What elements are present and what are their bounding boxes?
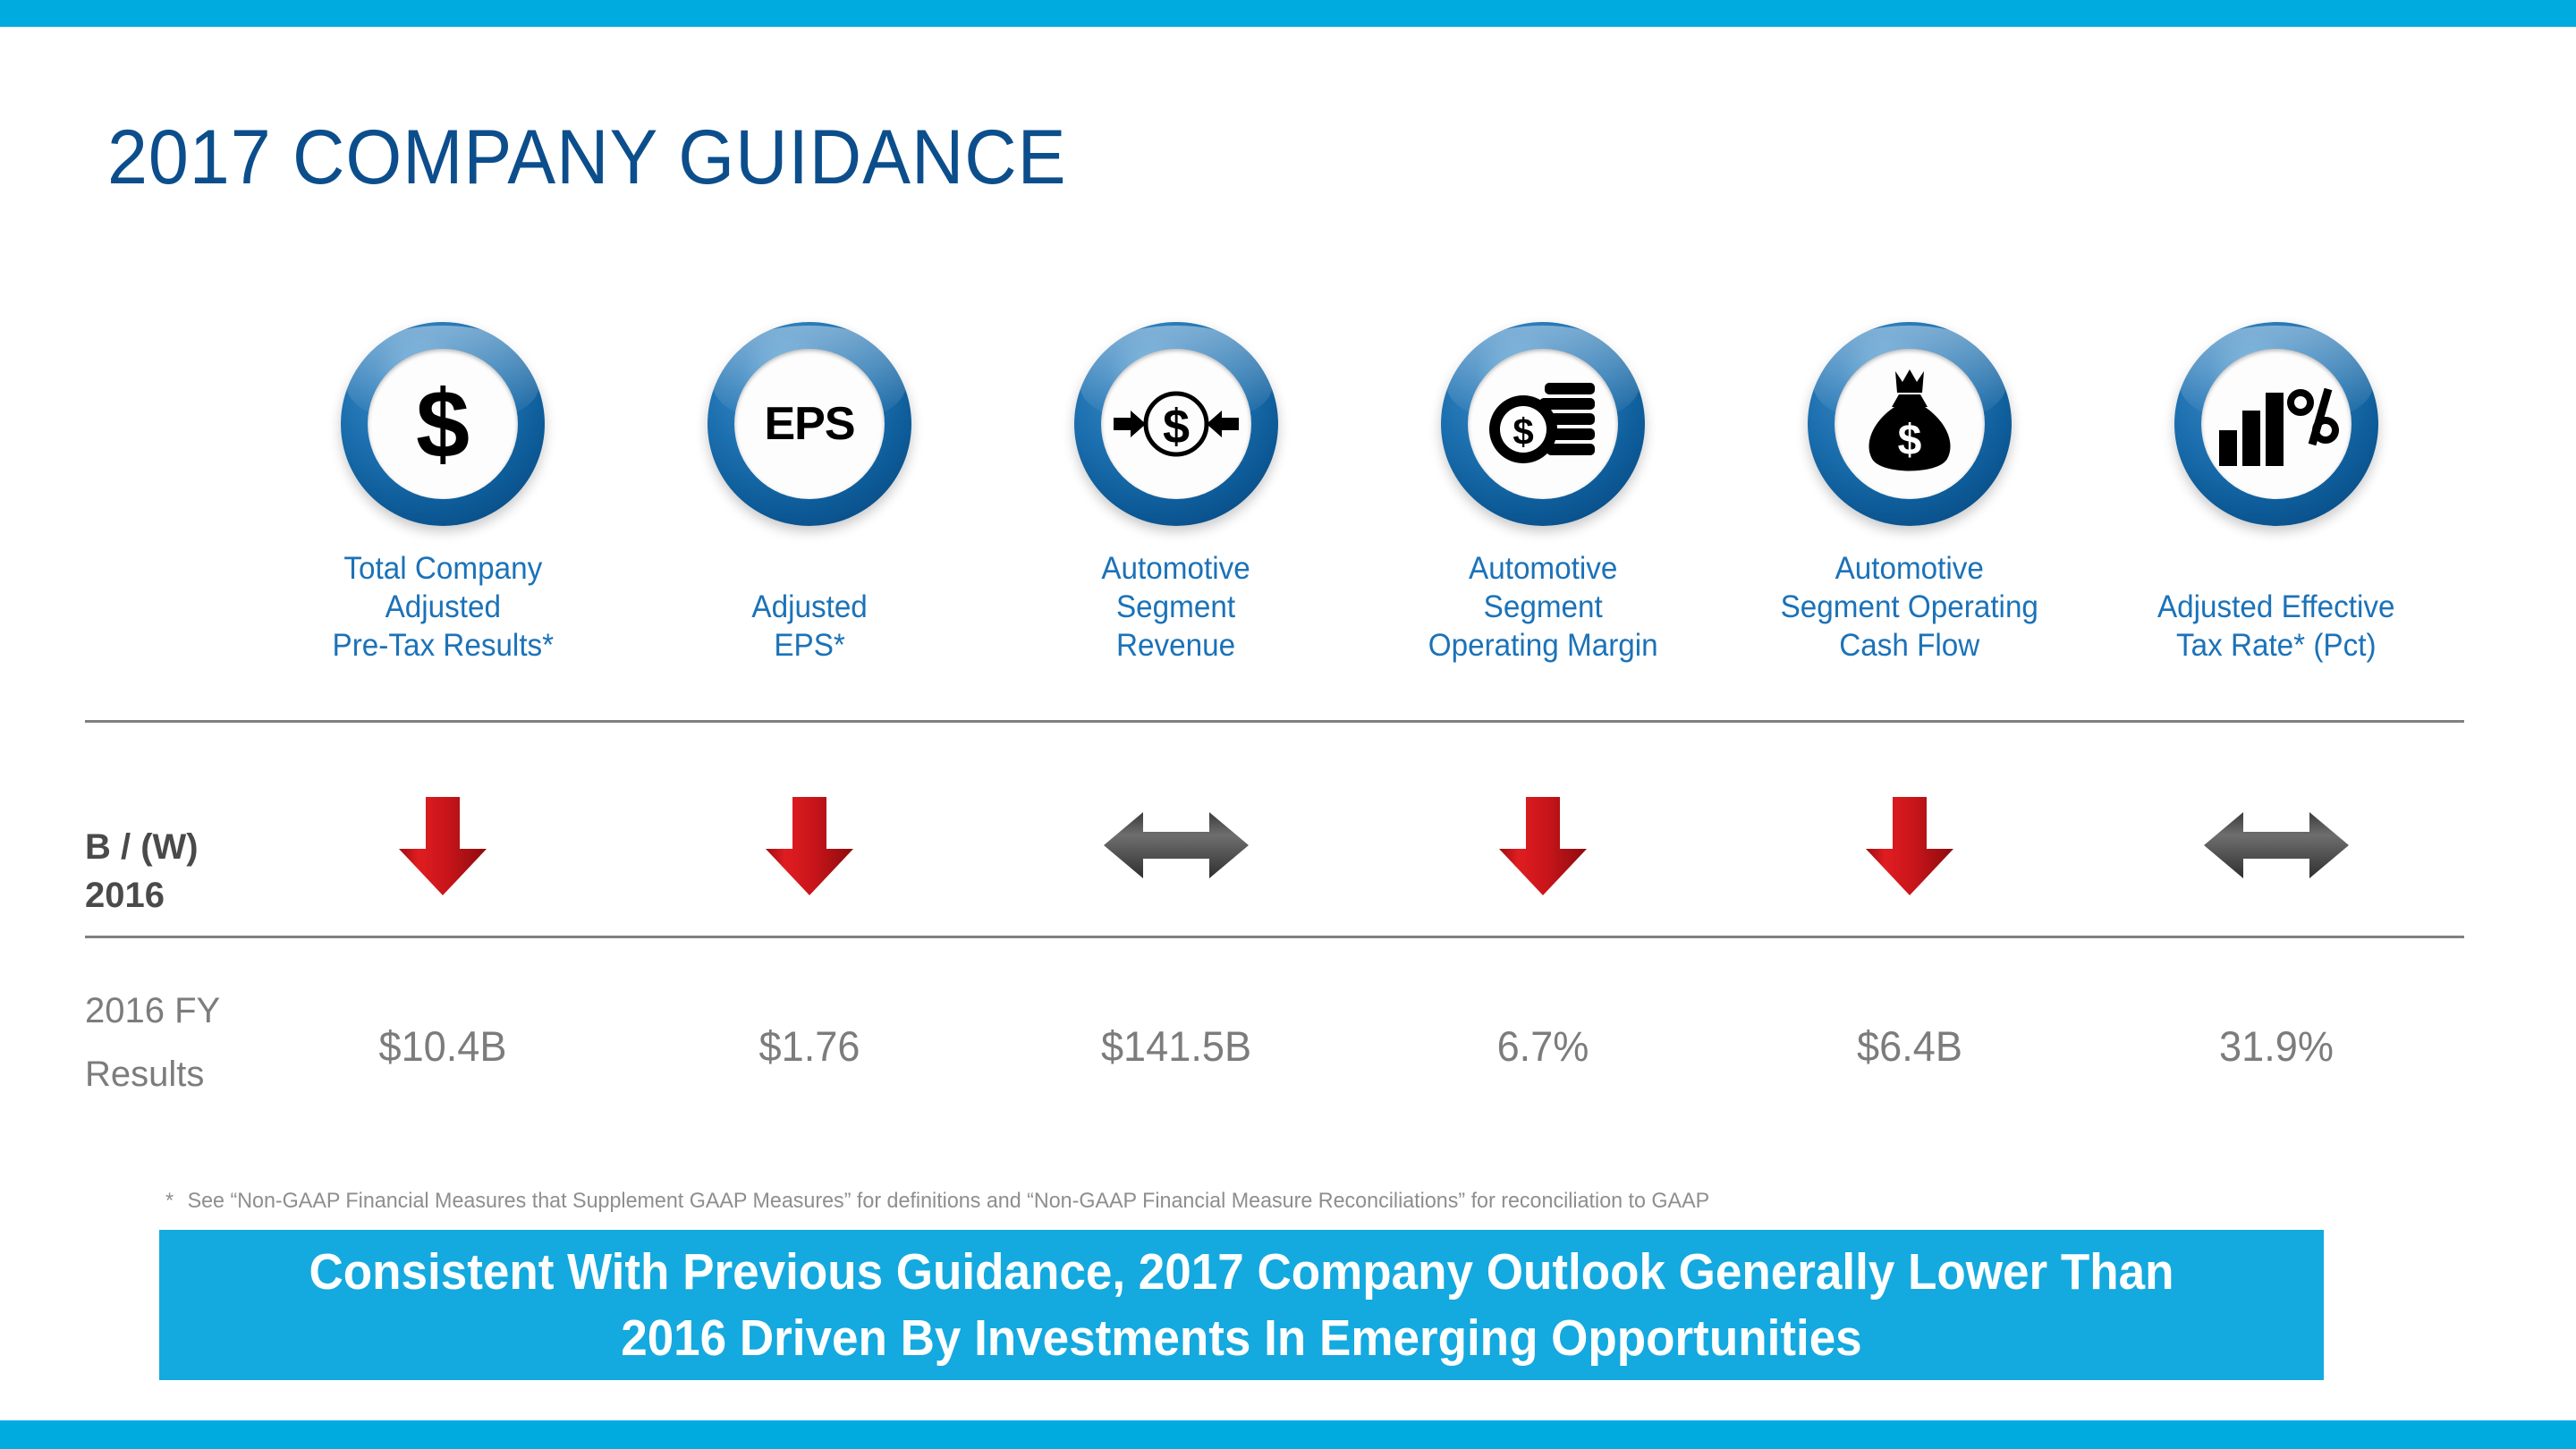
metric-caption: Automotive Segment Operating Margin	[1428, 549, 1658, 665]
bw-row-label-line1: B / (W)	[85, 823, 199, 871]
fy-value: 6.7%	[1367, 1020, 1719, 1073]
caption-line: Automotive	[1428, 549, 1658, 588]
caption-line: Automotive	[1781, 549, 2038, 588]
caption-line: Tax Rate* (Pct)	[2157, 626, 2395, 665]
fy-value-row: $10.4B $1.76 $141.5B 6.7% $6.4B 31.9%	[259, 1020, 2460, 1073]
inward-arrows-dollar-glyph: $	[1109, 375, 1243, 473]
metric-column: $ Automotive Segment Operating Margin	[1360, 322, 1726, 665]
metric-column: $ Automotive Segment Revenue	[993, 322, 1360, 665]
bar-chart-percent-icon	[2174, 322, 2378, 526]
down-arrow-icon	[1494, 792, 1592, 899]
caption-line	[751, 549, 867, 588]
coin-stack-icon: $	[1441, 322, 1645, 526]
fy-value: $141.5B	[1000, 1020, 1352, 1073]
trend-cell	[2093, 787, 2460, 903]
slide-canvas: 2017 COMPANY GUIDANCE $ Total Company Ad…	[0, 0, 2576, 1449]
fy-row-label-line1: 2016 FY	[85, 979, 220, 1043]
fy-value: $6.4B	[1733, 1020, 2086, 1073]
metric-column: $ Total Company Adjusted Pre-Tax Results…	[259, 322, 626, 665]
fy-value: $10.4B	[267, 1020, 619, 1073]
caption-line: Adjusted	[751, 588, 867, 626]
caption-line: EPS*	[751, 626, 867, 665]
divider-top	[85, 720, 2464, 723]
money-bag-glyph: $	[1856, 366, 1963, 482]
trend-cell	[1726, 787, 2093, 903]
metric-caption: Adjusted Effective Tax Rate* (Pct)	[2157, 549, 2395, 665]
down-arrow-icon	[394, 792, 492, 899]
fy-row-label-line2: Results	[85, 1043, 220, 1106]
fy-value: 31.9%	[2100, 1020, 2453, 1073]
caption-line: Segment Operating	[1781, 588, 2038, 626]
metric-column: Adjusted Effective Tax Rate* (Pct)	[2093, 322, 2460, 665]
eps-text-icon: EPS	[708, 322, 911, 526]
money-bag-icon: $	[1808, 322, 2012, 526]
metric-columns: $ Total Company Adjusted Pre-Tax Results…	[259, 322, 2460, 665]
caption-line: Revenue	[1102, 626, 1250, 665]
metric-caption: Automotive Segment Operating Cash Flow	[1781, 549, 2038, 665]
caption-line: Cash Flow	[1781, 626, 2038, 665]
page-title: 2017 COMPANY GUIDANCE	[107, 114, 1066, 200]
down-arrow-icon	[1860, 792, 1959, 899]
metric-column: $ Automotive Segment Operating Cash Flow	[1726, 322, 2093, 665]
caption-line: Segment	[1102, 588, 1250, 626]
trend-arrow-row	[259, 787, 2460, 903]
svg-text:$: $	[1898, 417, 1922, 464]
summary-banner: Consistent With Previous Guidance, 2017 …	[159, 1230, 2324, 1380]
svg-text:$: $	[1513, 411, 1533, 453]
caption-line: Adjusted Effective	[2157, 588, 2395, 626]
bar-chart-percent-glyph	[2214, 375, 2339, 473]
footnote-text: See “Non-GAAP Financial Measures that Su…	[188, 1189, 1710, 1213]
trend-cell	[1360, 787, 1726, 903]
metric-caption: Total Company Adjusted Pre-Tax Results*	[332, 549, 554, 665]
metric-column: EPS Adjusted EPS*	[626, 322, 993, 665]
trend-cell	[259, 787, 626, 903]
caption-line	[2157, 549, 2395, 588]
trend-cell	[626, 787, 993, 903]
fy-value: $1.76	[633, 1020, 986, 1073]
bottom-accent-bar	[0, 1420, 2576, 1449]
bw-row-label: B / (W) 2016	[85, 823, 199, 919]
caption-line: Operating Margin	[1428, 626, 1658, 665]
svg-text:$: $	[1163, 400, 1190, 453]
banner-line-1: Consistent With Previous Guidance, 2017 …	[309, 1239, 2173, 1305]
down-arrow-icon	[760, 792, 859, 899]
divider-bottom	[85, 936, 2464, 938]
caption-line: Total Company	[332, 549, 554, 588]
coin-stack-glyph: $	[1480, 370, 1606, 478]
fy-row-label: 2016 FY Results	[85, 979, 220, 1106]
eps-glyph: EPS	[764, 401, 854, 447]
top-accent-bar	[0, 0, 2576, 27]
dollar-sign-icon: $	[341, 322, 545, 526]
metric-caption: Adjusted EPS*	[751, 549, 867, 665]
trend-cell	[993, 787, 1360, 903]
metric-caption: Automotive Segment Revenue	[1102, 549, 1250, 665]
bw-row-label-line2: 2016	[85, 871, 199, 919]
dollar-glyph: $	[416, 376, 470, 472]
double-headed-arrow-icon	[1100, 805, 1252, 885]
double-headed-arrow-icon	[2200, 805, 2352, 885]
footnote: *See “Non-GAAP Financial Measures that S…	[165, 1188, 1709, 1215]
caption-line: Adjusted	[332, 588, 554, 626]
caption-line: Automotive	[1102, 549, 1250, 588]
banner-line-2: 2016 Driven By Investments In Emerging O…	[621, 1305, 1861, 1371]
caption-line: Segment	[1428, 588, 1658, 626]
revenue-inward-arrows-dollar-icon: $	[1074, 322, 1278, 526]
caption-line: Pre-Tax Results*	[332, 626, 554, 665]
footnote-marker: *	[165, 1189, 174, 1213]
